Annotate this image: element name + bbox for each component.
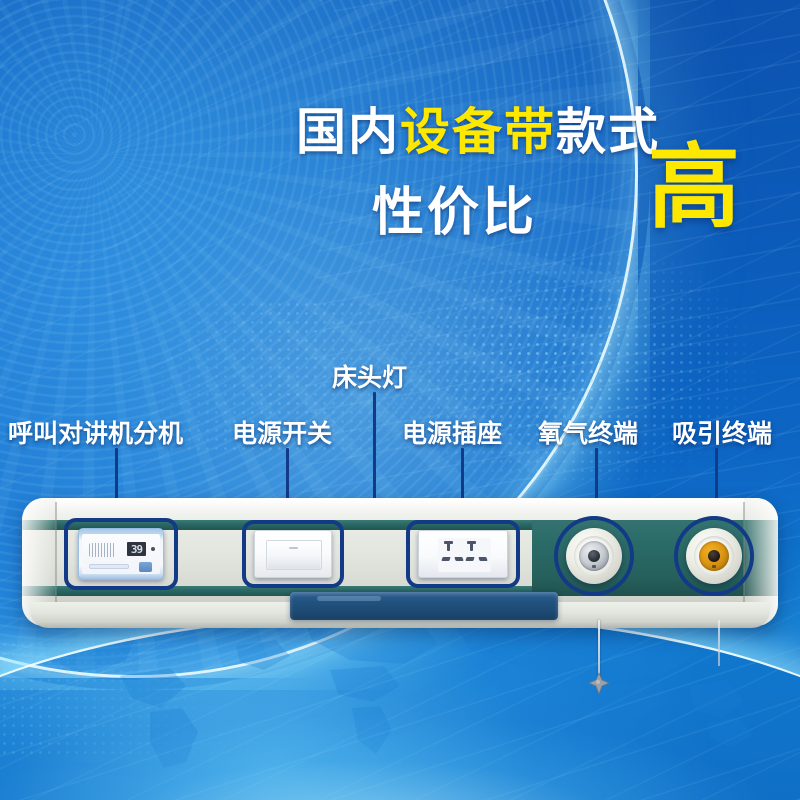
callout-label-suction: 吸引终端: [672, 414, 772, 450]
secondary-cord: [718, 620, 720, 666]
highlight-box-power-switch: [242, 520, 344, 588]
headline-line-1: 国内设备带款式: [296, 92, 660, 164]
poster-canvas: 国内设备带款式 性价比 高 呼叫对讲机分机 电源开关 床头灯 电源插座 氧气终端…: [0, 0, 800, 800]
headline-prefix: 国内: [296, 103, 400, 161]
callout-label-power-switch: 电源开关: [232, 414, 332, 450]
pull-cord[interactable]: [598, 620, 600, 678]
headline-big-word: 高: [648, 142, 740, 234]
horizon-arc: [0, 612, 800, 800]
light-bar[interactable]: [290, 592, 558, 620]
headline-highlight: 设备带: [400, 103, 556, 161]
cross-pull-handle-icon[interactable]: [586, 672, 612, 698]
headline-suffix: 款式: [556, 103, 660, 161]
headline-line-2: 性价比: [372, 170, 537, 245]
highlight-circle-oxygen: [554, 516, 634, 596]
callout-label-power-socket: 电源插座: [402, 414, 502, 450]
highlight-circle-suction: [674, 516, 754, 596]
callout-label-bed-lamp: 床头灯: [332, 358, 407, 394]
callout-label-intercom: 呼叫对讲机分机: [8, 414, 183, 450]
callout-label-oxygen: 氧气终端: [538, 414, 638, 450]
highlight-box-power-socket: [406, 520, 520, 588]
highlight-box-intercom: [64, 518, 178, 590]
